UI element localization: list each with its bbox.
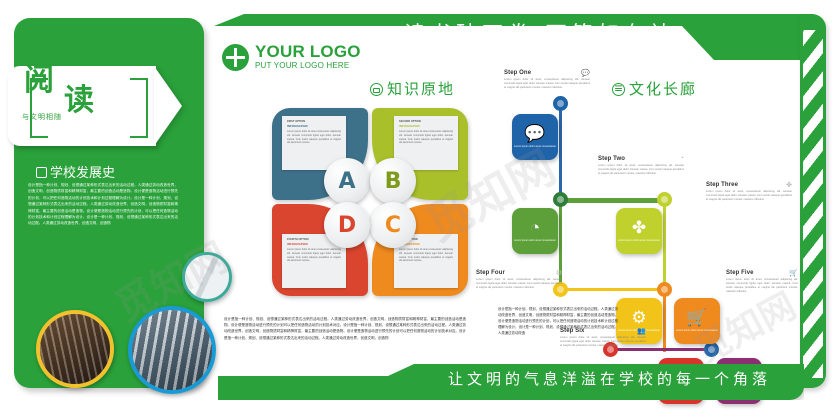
step-1-title: Step One [504,70,590,76]
open-book-circle-icon [370,83,383,96]
connector-3 [560,200,668,203]
left-section-title: 学校发展史 [36,162,115,181]
petal-a-head: FIRST OPTION [282,116,346,124]
chat-icon: 💬 [524,125,545,142]
step-tile-2-caption: Lorem ipsum dolor amet consectetuer [514,239,556,242]
cart-icon: 🛒 [686,309,707,326]
poster-canvas: 阅 读 与文明相随 学校发展史 设计是指一种计划、规划、设想通过某种形式表达出来… [0,0,840,419]
puzzle-icon: ✤ [632,219,646,236]
brand-arrow-tip-icon [154,66,182,146]
read-brand-badge: 阅 读 与文明相随 [8,66,156,146]
cart-mini-icon: 🛒 [789,269,798,277]
right-stripe-bar [800,14,826,388]
cross-logo-icon [222,44,249,71]
step-2-title: Step Two [598,156,684,162]
step-3-body: Lorem ipsum dolor sit amet, consectetuer… [706,190,792,202]
step-tile-5-caption: Lorem ipsum dolor amet consectetuer [676,329,718,332]
connector-4 [663,198,666,290]
brand-char-read-2: 读 [64,86,94,116]
step-node-2[interactable] [553,192,568,207]
step-3-title: Step Three [706,182,792,188]
puzzle-mini-icon: ✤ [786,181,792,189]
petal-letter-a: A [338,169,355,194]
step-node-1[interactable] [553,96,568,111]
logo-block: YOUR LOGO PUT YOUR LOGO HERE [222,44,361,71]
step-6-body: Lorem ipsum dolor sit amet, consectetuer… [560,336,646,348]
logo-title: YOUR LOGO [255,44,361,60]
petal-d-body: Lorem ipsum dolor sit amet consectetur a… [282,246,346,264]
book-icon [36,167,47,178]
brand-char-read-1: 阅 [24,66,54,96]
footer-title: 让文明的气息洋溢在学校的每一个角落 [448,368,771,389]
step-2-body: Lorem ipsum dolor sit amet, consectetuer… [598,164,684,176]
petal-a-body: Lorem ipsum dolor sit amet consectetur a… [282,128,346,146]
header-title: 读书破万卷 下笔如有神 [404,18,734,48]
step-tile-1-caption: Lorem ipsum dolor amet consectetuer [514,145,556,148]
petal-knob-d[interactable]: D [324,202,370,248]
gears-mini-icon: ⚙ [556,269,562,277]
step-tile-3-caption: Lorem ipsum dolor amet consectetuer [618,239,660,242]
step-4-title: Step Four [476,270,562,276]
left-body-text: 设计是指一种计划、规划、设想通过某种形式表达出来的活动过程。人类通过劳动改造世界… [28,182,178,227]
step-text-4: Step Four Lorem ipsum dolor sit amet, co… [476,270,562,290]
step-tile-5[interactable]: 🛒 Lorem ipsum dolor amet consectetuer [674,298,720,344]
step-4-body: Lorem ipsum dolor sit amet, consectetuer… [476,278,562,290]
step-5-title: Step Five [726,270,798,276]
petal-letter-c: C [385,213,401,238]
gears-icon: ⚙ [631,309,646,326]
people-mini-icon: 👥 [637,327,646,335]
brand-subtitle: 与文明相随 [22,112,62,122]
library-interior-photo [128,306,216,394]
bookshelf-photo [36,310,114,388]
step-1-body: Lorem ipsum dolor sit amet, consectetuer… [504,78,590,90]
middle-section-title: 知识原地 [370,78,455,99]
petal-infographic: FIRST OPTION INFOGRAPHIC Lorem ipsum dol… [272,108,468,298]
step-text-1: Step One Lorem ipsum dolor sit amet, con… [504,70,590,90]
petal-knob-b[interactable]: B [370,158,416,204]
petal-knob-c[interactable]: C [370,202,416,248]
pie-chart-icon: ◔ [530,219,540,236]
step-tile-2[interactable]: ◔ Lorem ipsum dolor amet consectetuer [512,208,558,254]
petal-knob-a[interactable]: A [324,158,370,204]
petal-c-body: Lorem ipsum dolor sit amet consectetur a… [394,246,458,264]
step-node-3[interactable] [657,192,672,207]
petal-letter-b: B [385,169,402,194]
step-node-7[interactable] [704,342,719,357]
step-node-5[interactable] [657,282,672,297]
connector-5 [560,288,666,291]
connector-6 [663,288,666,352]
middle-body-text: 设计是指一种计划、规划、设想通过某种形式表达出来的活动过程。人类通过劳动改造世界… [224,316,466,341]
connector-1 [559,104,562,206]
petal-letter-d: D [338,213,356,238]
petal-b-body: Lorem ipsum dolor sit amet consectetur a… [394,128,458,146]
chat-mini-icon: 💬 [581,69,590,77]
step-text-3: Step Three Lorem ipsum dolor sit amet, c… [706,182,792,202]
step-tile-3[interactable]: ✤ Lorem ipsum dolor amet consectetuer [616,208,662,254]
pie-mini-icon: ◔ [680,155,684,162]
step-tile-1[interactable]: 💬 Lorem ipsum dolor amet consectetuer [512,114,558,160]
step-text-2: Step Two Lorem ipsum dolor sit amet, con… [598,156,684,176]
brand-characters: 阅 读 与文明相随 [8,66,126,126]
connector-8 [610,348,710,351]
logo-subtitle: PUT YOUR LOGO HERE [255,60,361,71]
open-book-photo [182,252,232,302]
petal-b-head: SECOND OPTION [394,116,458,124]
step-5-body: Lorem ipsum dolor sit amet, consectetuer… [726,278,798,294]
right-body-text: 设计是指一种计划、规划、设想通过某种形式表达出来的活动过程。人类通过劳动改造世界… [498,306,618,336]
step-text-5: Step Five Lorem ipsum dolor sit amet, co… [726,270,798,294]
